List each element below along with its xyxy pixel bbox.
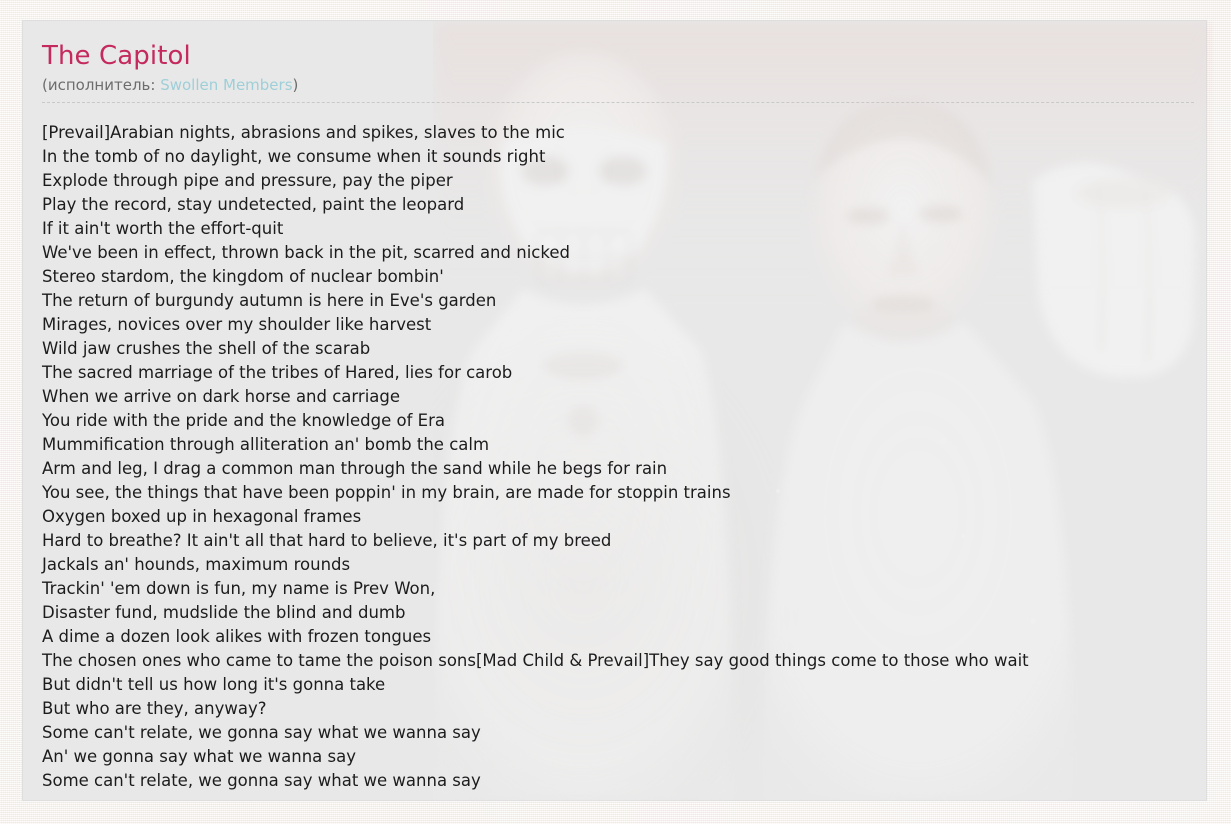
page-frame: The Capitol (исполнитель: Swollen Member… (0, 0, 1231, 824)
lyric-line: When we arrive on dark horse and carriag… (42, 385, 1231, 409)
lyric-line: Stereo stardom, the kingdom of nuclear b… (42, 265, 1231, 289)
lyric-line: You ride with the pride and the knowledg… (42, 409, 1231, 433)
lyric-line: In the tomb of no daylight, we consume w… (42, 145, 1231, 169)
lyric-line: We've been in effect, thrown back in the… (42, 241, 1231, 265)
lyric-line: Hard to breathe? It ain't all that hard … (42, 529, 1231, 553)
artist-line: (исполнитель: Swollen Members) (42, 76, 1194, 103)
lyric-line: Disaster fund, mudslide the blind and du… (42, 601, 1231, 625)
artist-prefix-label: (исполнитель: (42, 76, 160, 94)
artist-suffix-label: ) (293, 76, 299, 94)
lyrics-content-panel: The Capitol (исполнитель: Swollen Member… (22, 20, 1207, 801)
lyric-line: But who are they, anyway? (42, 697, 1231, 721)
artist-link[interactable]: Swollen Members (160, 76, 292, 94)
lyric-line: Some can't relate, we gonna say what we … (42, 769, 1231, 793)
lyric-line: The sacred marriage of the tribes of Har… (42, 361, 1231, 385)
lyric-line: Mummification through alliteration an' b… (42, 433, 1231, 457)
lyric-line: The chosen ones who came to tame the poi… (42, 649, 1231, 673)
lyric-line: A dime a dozen look alikes with frozen t… (42, 625, 1231, 649)
page-title: The Capitol (42, 41, 1194, 71)
lyric-line: [Prevail]Arabian nights, abrasions and s… (42, 121, 1231, 145)
lyric-line: You see, the things that have been poppi… (42, 481, 1231, 505)
lyric-line: Jackals an' hounds, maximum rounds (42, 553, 1231, 577)
lyric-line: Oxygen boxed up in hexagonal frames (42, 505, 1231, 529)
lyrics-text-block: [Prevail]Arabian nights, abrasions and s… (42, 121, 1231, 793)
lyric-line: Wild jaw crushes the shell of the scarab (42, 337, 1231, 361)
lyric-line: Some can't relate, we gonna say what we … (42, 721, 1231, 745)
lyric-line: The return of burgundy autumn is here in… (42, 289, 1231, 313)
lyric-line: Explode through pipe and pressure, pay t… (42, 169, 1231, 193)
lyric-line: Mirages, novices over my shoulder like h… (42, 313, 1231, 337)
lyric-line: Trackin' 'em down is fun, my name is Pre… (42, 577, 1231, 601)
lyric-line: Arm and leg, I drag a common man through… (42, 457, 1231, 481)
header-block: The Capitol (исполнитель: Swollen Member… (42, 41, 1194, 103)
lyric-line: But didn't tell us how long it's gonna t… (42, 673, 1231, 697)
lyric-line: An' we gonna say what we wanna say (42, 745, 1231, 769)
lyric-line: Play the record, stay undetected, paint … (42, 193, 1231, 217)
lyric-line: If it ain't worth the effort-quit (42, 217, 1231, 241)
